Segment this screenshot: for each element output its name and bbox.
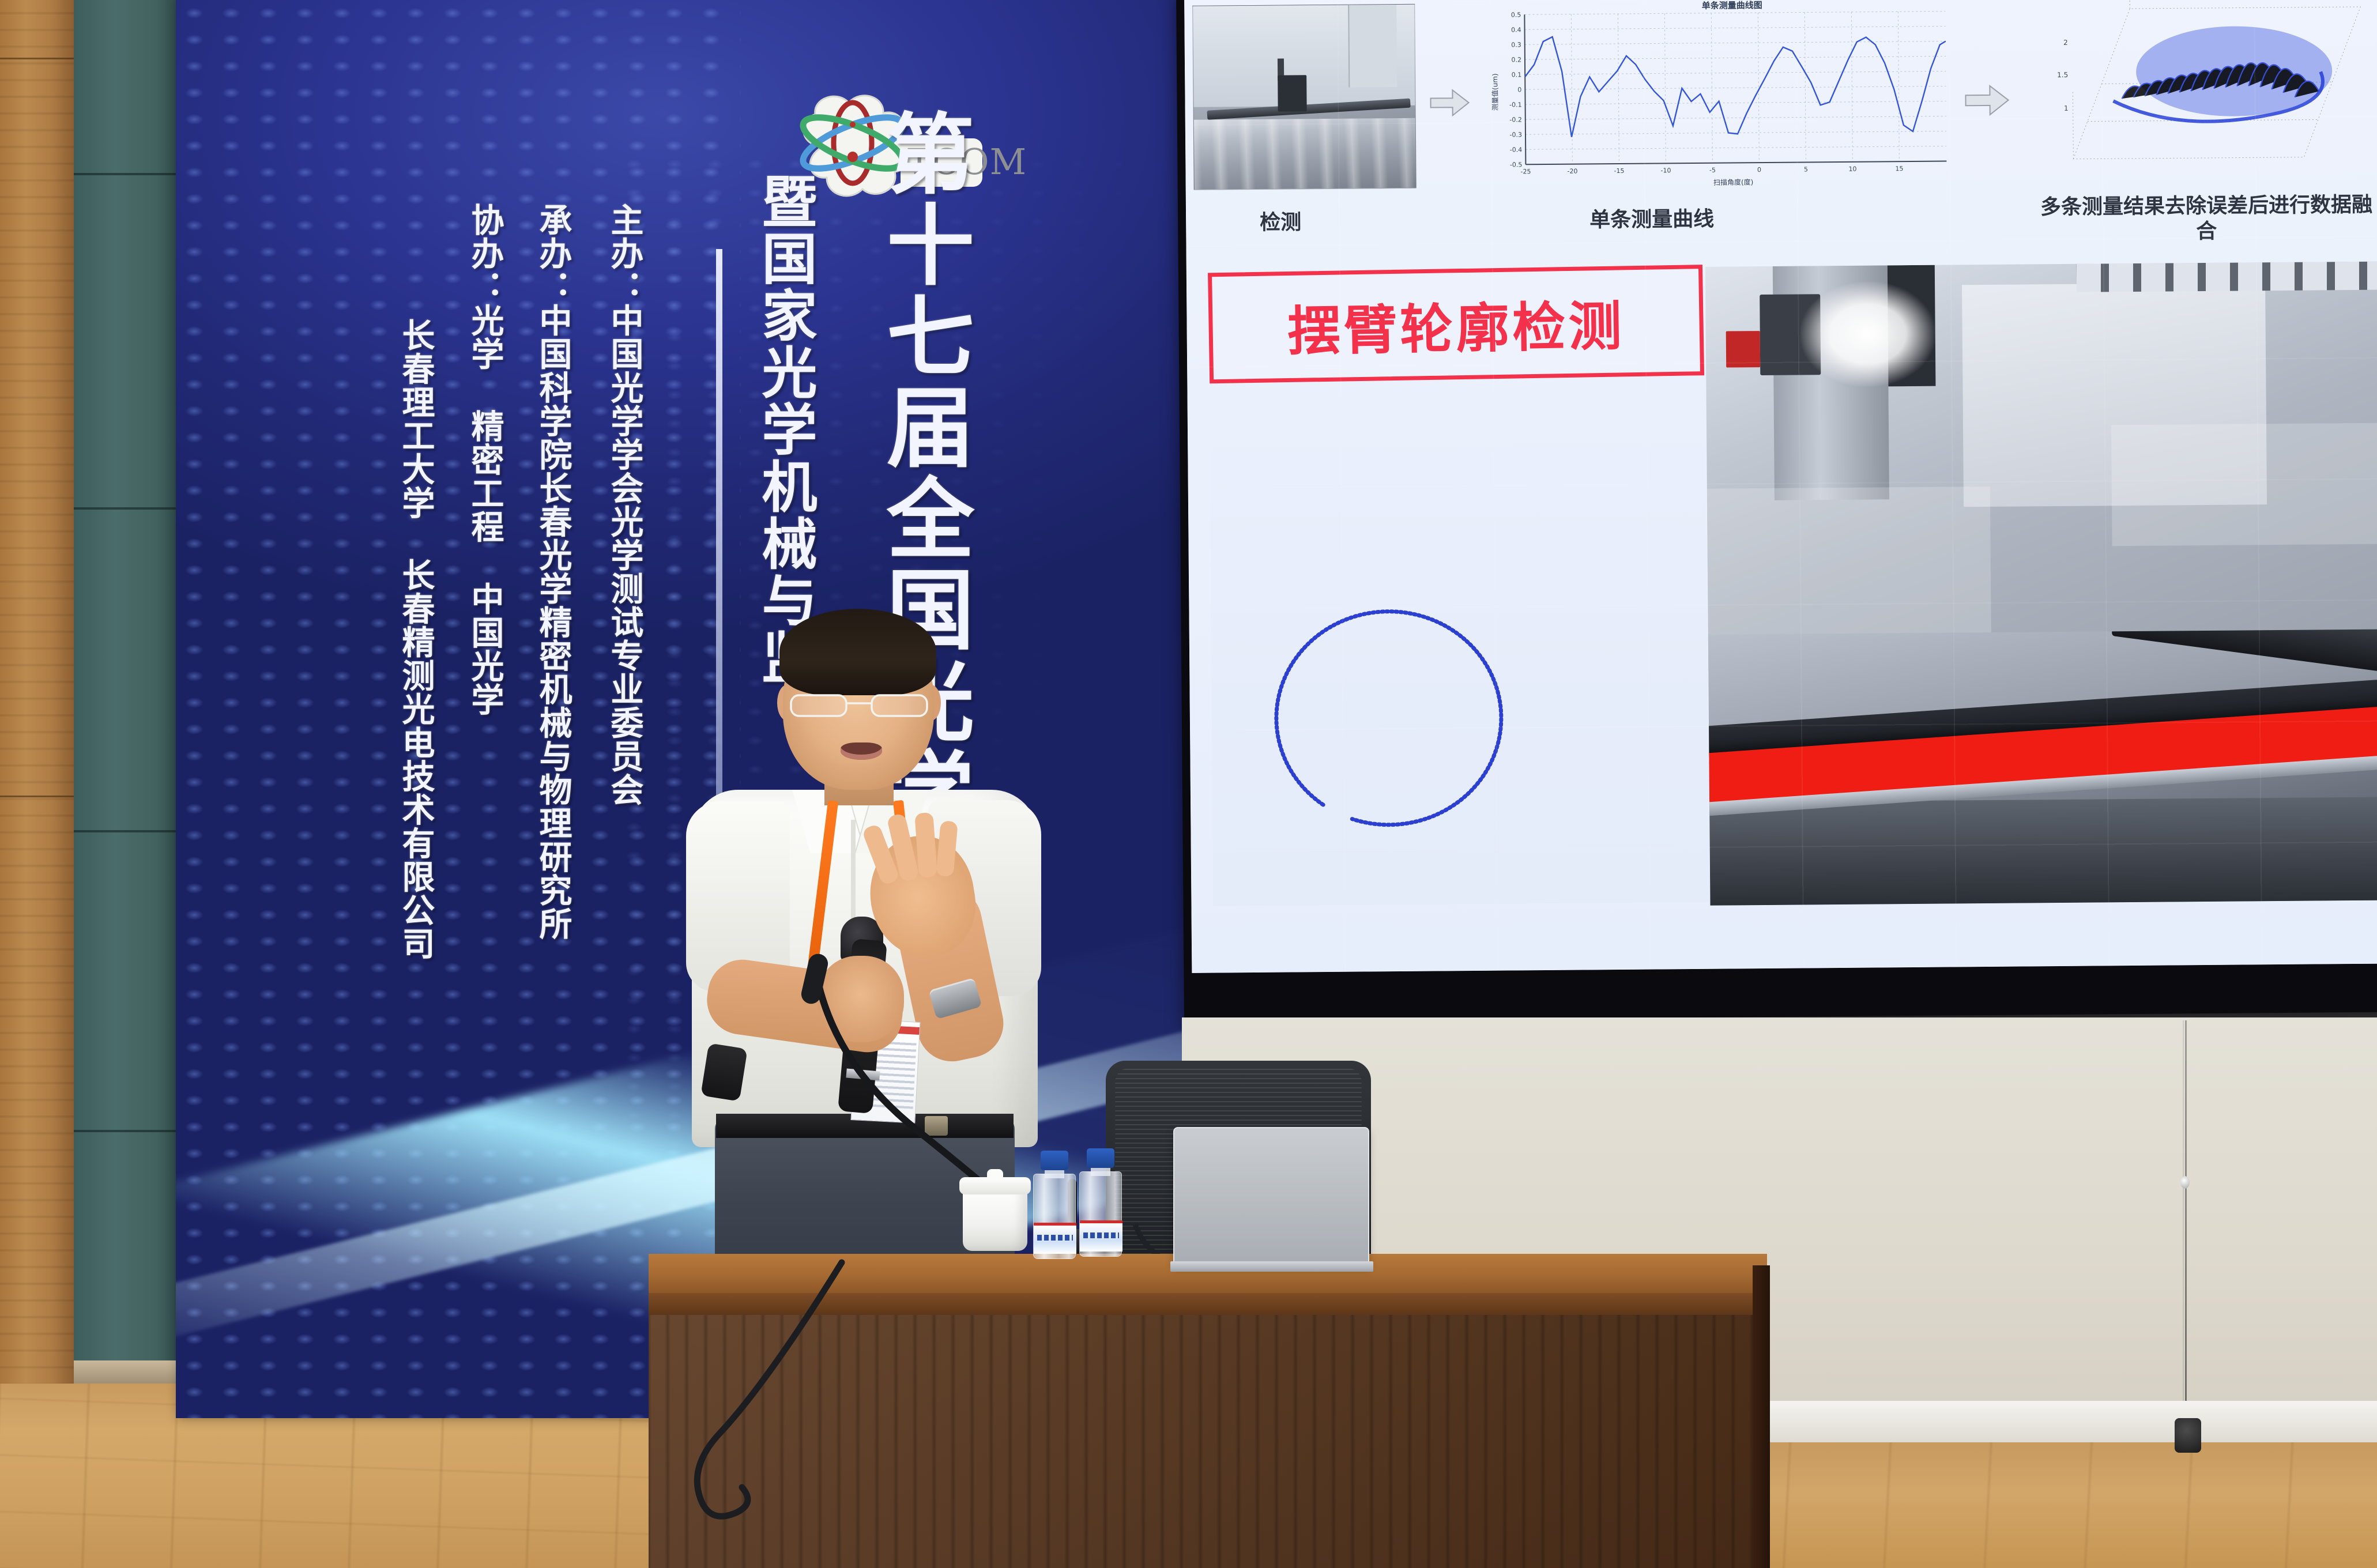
fusion-3d-plot: 21.51 三维融合结果 <box>2014 0 2374 189</box>
cable-anchor-knob <box>2180 1176 2190 1189</box>
machine-closeup-photo <box>1708 630 2377 906</box>
photo-scene: TCOM 第十七届全国光学 暨国家光学机械与监 主办：中国光学学会光学测试专业委… <box>0 0 2377 1568</box>
arrow-right-icon <box>1429 88 1470 118</box>
banner-organizer-partners: 长春理工大学 长春精测光电技术有限公司 <box>392 318 439 960</box>
svg-text:0.5: 0.5 <box>1511 11 1521 18</box>
presenter-hair <box>779 609 936 695</box>
svg-text:-5: -5 <box>1709 167 1716 174</box>
water-bottle-cap <box>1041 1151 1068 1170</box>
arrow-right-icon-2 <box>1964 84 2009 118</box>
svg-text:15: 15 <box>1895 165 1903 172</box>
dell-laptop: DELL <box>1173 1127 1369 1265</box>
svg-text:0: 0 <box>1517 86 1521 93</box>
svg-text:-0.4: -0.4 <box>1510 146 1523 153</box>
svg-text:-25: -25 <box>1520 168 1531 175</box>
svg-text:0.3: 0.3 <box>1511 41 1521 48</box>
banner-organizer-host: 主办：中国光学学会光学测试专业委员会 <box>601 203 648 806</box>
caption-fusion: 多条测量结果去除误差后进行数据融合 <box>2039 193 2374 246</box>
swing-arm-circular-trace <box>1264 555 1589 862</box>
svg-text:-0.3: -0.3 <box>1509 131 1522 138</box>
wood-wall-panel <box>0 0 74 1401</box>
detection-photo <box>1192 4 1417 190</box>
banner-organizer-cohost: 协办：光学 精密工程 中国光学 <box>461 203 508 716</box>
svg-text:-0.2: -0.2 <box>1509 116 1522 123</box>
screen-caster-wheel <box>2175 1418 2201 1453</box>
slide-section-title: 摆臂轮廓检测 <box>1287 283 1625 365</box>
teal-wall-panel <box>74 0 178 1384</box>
svg-text:0: 0 <box>1757 166 1761 174</box>
slide-section-title-box: 摆臂轮廓检测 <box>1208 265 1704 383</box>
line-chart-title: 单条测量曲线图 <box>1702 0 1762 11</box>
water-bottle-2-cap <box>1087 1148 1114 1168</box>
eyeglasses <box>788 688 931 723</box>
banner-organizer-undertaker: 承办：中国科学院长春光学精密机械与物理研究所 <box>529 203 577 940</box>
projection-screen: 0.50.4 0.30.2 0.10 -0.1-0.2 -0.3-0.4 -0.… <box>1176 0 2377 1022</box>
measurement-line-chart: 0.50.4 0.30.2 0.10 -0.1-0.2 -0.3-0.4 -0.… <box>1484 0 1958 190</box>
svg-text:5: 5 <box>1804 165 1808 173</box>
podium-side-face <box>1753 1265 1770 1568</box>
wall-panel-seam <box>2183 1020 2184 1418</box>
projection-screen-surface: 0.50.4 0.30.2 0.10 -0.1-0.2 -0.3-0.4 -0.… <box>1184 0 2377 973</box>
fitness-band <box>700 1043 748 1102</box>
machine-photo <box>1705 262 2377 670</box>
svg-text:-10: -10 <box>1660 167 1671 174</box>
svg-text:-0.1: -0.1 <box>1509 101 1522 108</box>
presentation-slide: 0.50.4 0.30.2 0.10 -0.1-0.2 -0.3-0.4 -0.… <box>1184 0 2377 973</box>
caption-detection: 检测 <box>1260 205 1301 236</box>
svg-text:0.2: 0.2 <box>1511 56 1521 63</box>
svg-text:0.4: 0.4 <box>1511 26 1521 33</box>
line-chart-ylabel: 测量值(um) <box>1490 73 1500 111</box>
laptop-base <box>1170 1261 1373 1272</box>
teacup-lid-knob <box>987 1169 1003 1181</box>
svg-text:0.1: 0.1 <box>1512 71 1522 78</box>
svg-text:-20: -20 <box>1567 168 1577 175</box>
line-chart-xlabel: 扫描角度(度) <box>1713 178 1753 187</box>
caption-single-curve: 单条测量曲线 <box>1589 202 1714 233</box>
svg-text:1: 1 <box>2064 104 2069 112</box>
white-teacup <box>963 1188 1027 1251</box>
water-bottle <box>1033 1174 1076 1259</box>
hanging-cable <box>2185 1020 2187 1424</box>
banner-title-sub: 暨国家光学机械与监 <box>745 173 825 686</box>
presenter-mouth <box>841 742 882 760</box>
svg-text:10: 10 <box>1848 165 1856 173</box>
svg-text:1.5: 1.5 <box>2057 71 2068 79</box>
podium-power-cable <box>669 1262 865 1551</box>
svg-text:2: 2 <box>2063 39 2068 47</box>
svg-text:-15: -15 <box>1614 167 1624 175</box>
water-bottle-2 <box>1079 1171 1122 1257</box>
